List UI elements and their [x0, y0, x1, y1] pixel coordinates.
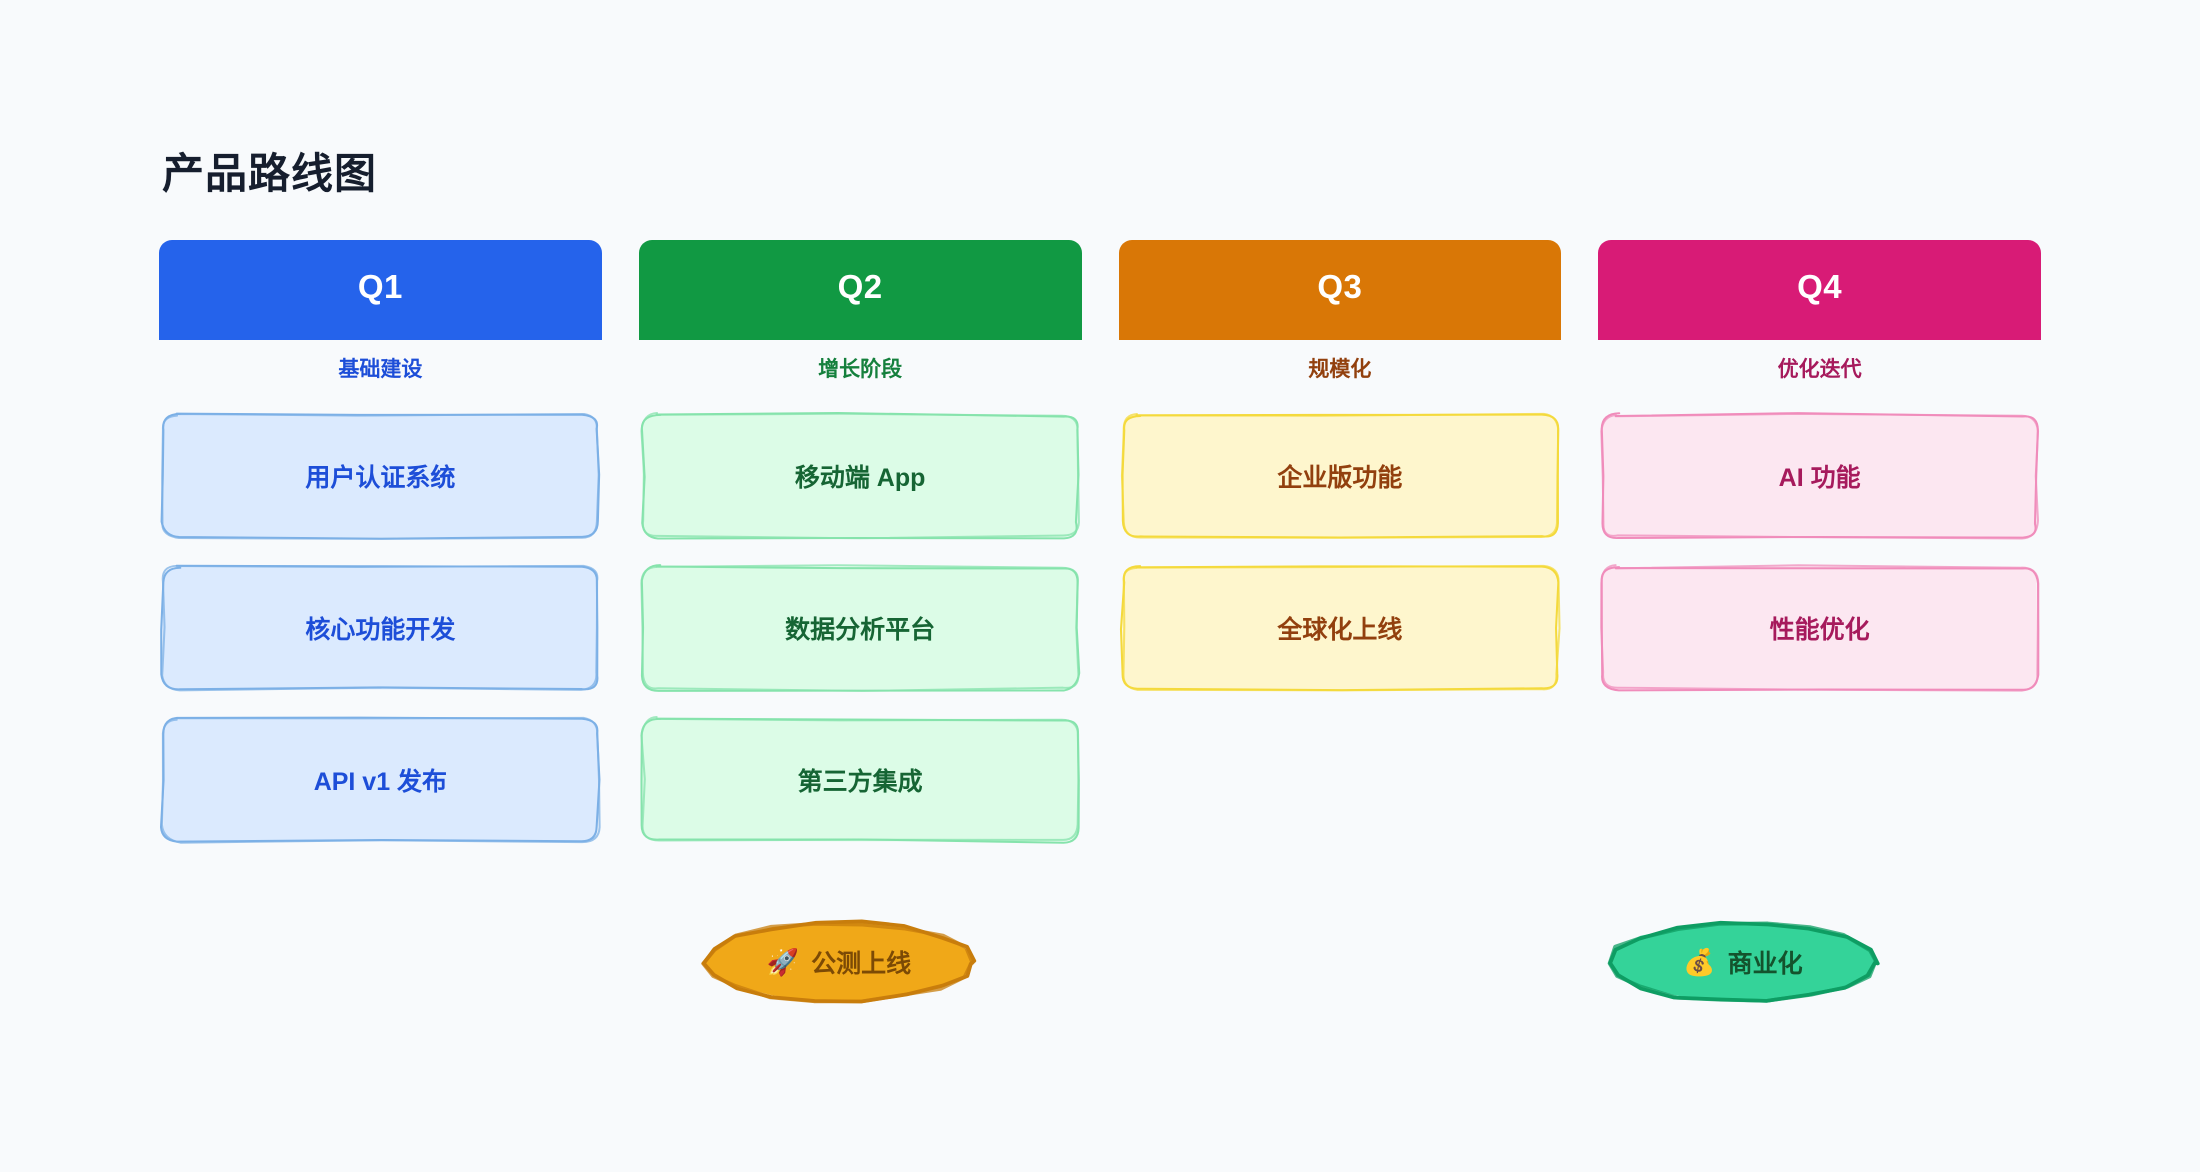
quarter-subtitle-q2: 增长阶段	[639, 340, 1082, 396]
quarter-header-label: Q1	[358, 268, 403, 306]
rocket-icon: 🚀	[767, 949, 799, 975]
roadmap-card-label: 第三方集成	[780, 762, 941, 798]
quarter-column-q2: Q2增长阶段移动端 App数据分析平台第三方集成	[639, 240, 1082, 845]
quarter-header-q1[interactable]: Q1	[159, 240, 602, 340]
roadmap-card[interactable]: 性能优化	[1598, 563, 2041, 693]
roadmap-board: Q1基础建设用户认证系统核心功能开发API v1 发布Q2增长阶段移动端 App…	[159, 240, 2041, 845]
quarter-header-label: Q3	[1317, 268, 1362, 306]
roadmap-card[interactable]: 移动端 App	[639, 411, 1082, 541]
roadmap-card[interactable]: 核心功能开发	[159, 563, 602, 693]
milestone-label: 商业化	[1728, 944, 1803, 980]
roadmap-card-label: 核心功能开发	[287, 610, 473, 646]
quarter-subtitle-q1: 基础建设	[159, 340, 602, 396]
quarter-column-q4: Q4优化迭代AI 功能性能优化	[1598, 240, 2041, 845]
quarter-subtitle-q4: 优化迭代	[1598, 340, 2041, 396]
quarter-subtitle-q3: 规模化	[1119, 340, 1562, 396]
roadmap-card[interactable]: 用户认证系统	[159, 411, 602, 541]
quarter-header-label: Q2	[838, 268, 883, 306]
milestone-content: 🚀公测上线	[767, 944, 911, 980]
quarter-header-label: Q4	[1797, 268, 1842, 306]
roadmap-card-label: 性能优化	[1752, 610, 1888, 646]
quarter-header-q2[interactable]: Q2	[639, 240, 1082, 340]
page-title: 产品路线图	[162, 140, 377, 201]
roadmap-card[interactable]: 企业版功能	[1119, 411, 1562, 541]
roadmap-card-label: 用户认证系统	[287, 458, 473, 494]
roadmap-card-label: AI 功能	[1761, 458, 1879, 494]
roadmap-card[interactable]: API v1 发布	[159, 715, 602, 845]
milestone-content: 💰商业化	[1683, 944, 1802, 980]
quarter-column-q3: Q3规模化企业版功能全球化上线	[1119, 240, 1562, 845]
cards-stack-q1: 用户认证系统核心功能开发API v1 发布	[159, 411, 602, 845]
roadmap-card-label: 全球化上线	[1259, 610, 1420, 646]
cards-stack-q3: 企业版功能全球化上线	[1119, 411, 1562, 693]
milestone-badge-beta[interactable]: 🚀公测上线	[701, 919, 977, 1005]
roadmap-card[interactable]: AI 功能	[1598, 411, 2041, 541]
milestone-label: 公测上线	[811, 944, 911, 980]
quarter-header-q4[interactable]: Q4	[1598, 240, 2041, 340]
milestone-badge-monetize[interactable]: 💰商业化	[1605, 919, 1881, 1005]
cards-stack-q2: 移动端 App数据分析平台第三方集成	[639, 411, 1082, 845]
roadmap-card-label: 企业版功能	[1259, 458, 1420, 494]
quarter-header-q3[interactable]: Q3	[1119, 240, 1562, 340]
roadmap-card-label: 移动端 App	[777, 458, 944, 494]
roadmap-card[interactable]: 全球化上线	[1119, 563, 1562, 693]
roadmap-card[interactable]: 第三方集成	[639, 715, 1082, 845]
money-bag-icon: 💰	[1683, 949, 1715, 975]
roadmap-card[interactable]: 数据分析平台	[639, 563, 1082, 693]
roadmap-card-label: 数据分析平台	[767, 610, 953, 646]
roadmap-card-label: API v1 发布	[296, 762, 465, 798]
cards-stack-q4: AI 功能性能优化	[1598, 411, 2041, 693]
quarter-column-q1: Q1基础建设用户认证系统核心功能开发API v1 发布	[159, 240, 602, 845]
